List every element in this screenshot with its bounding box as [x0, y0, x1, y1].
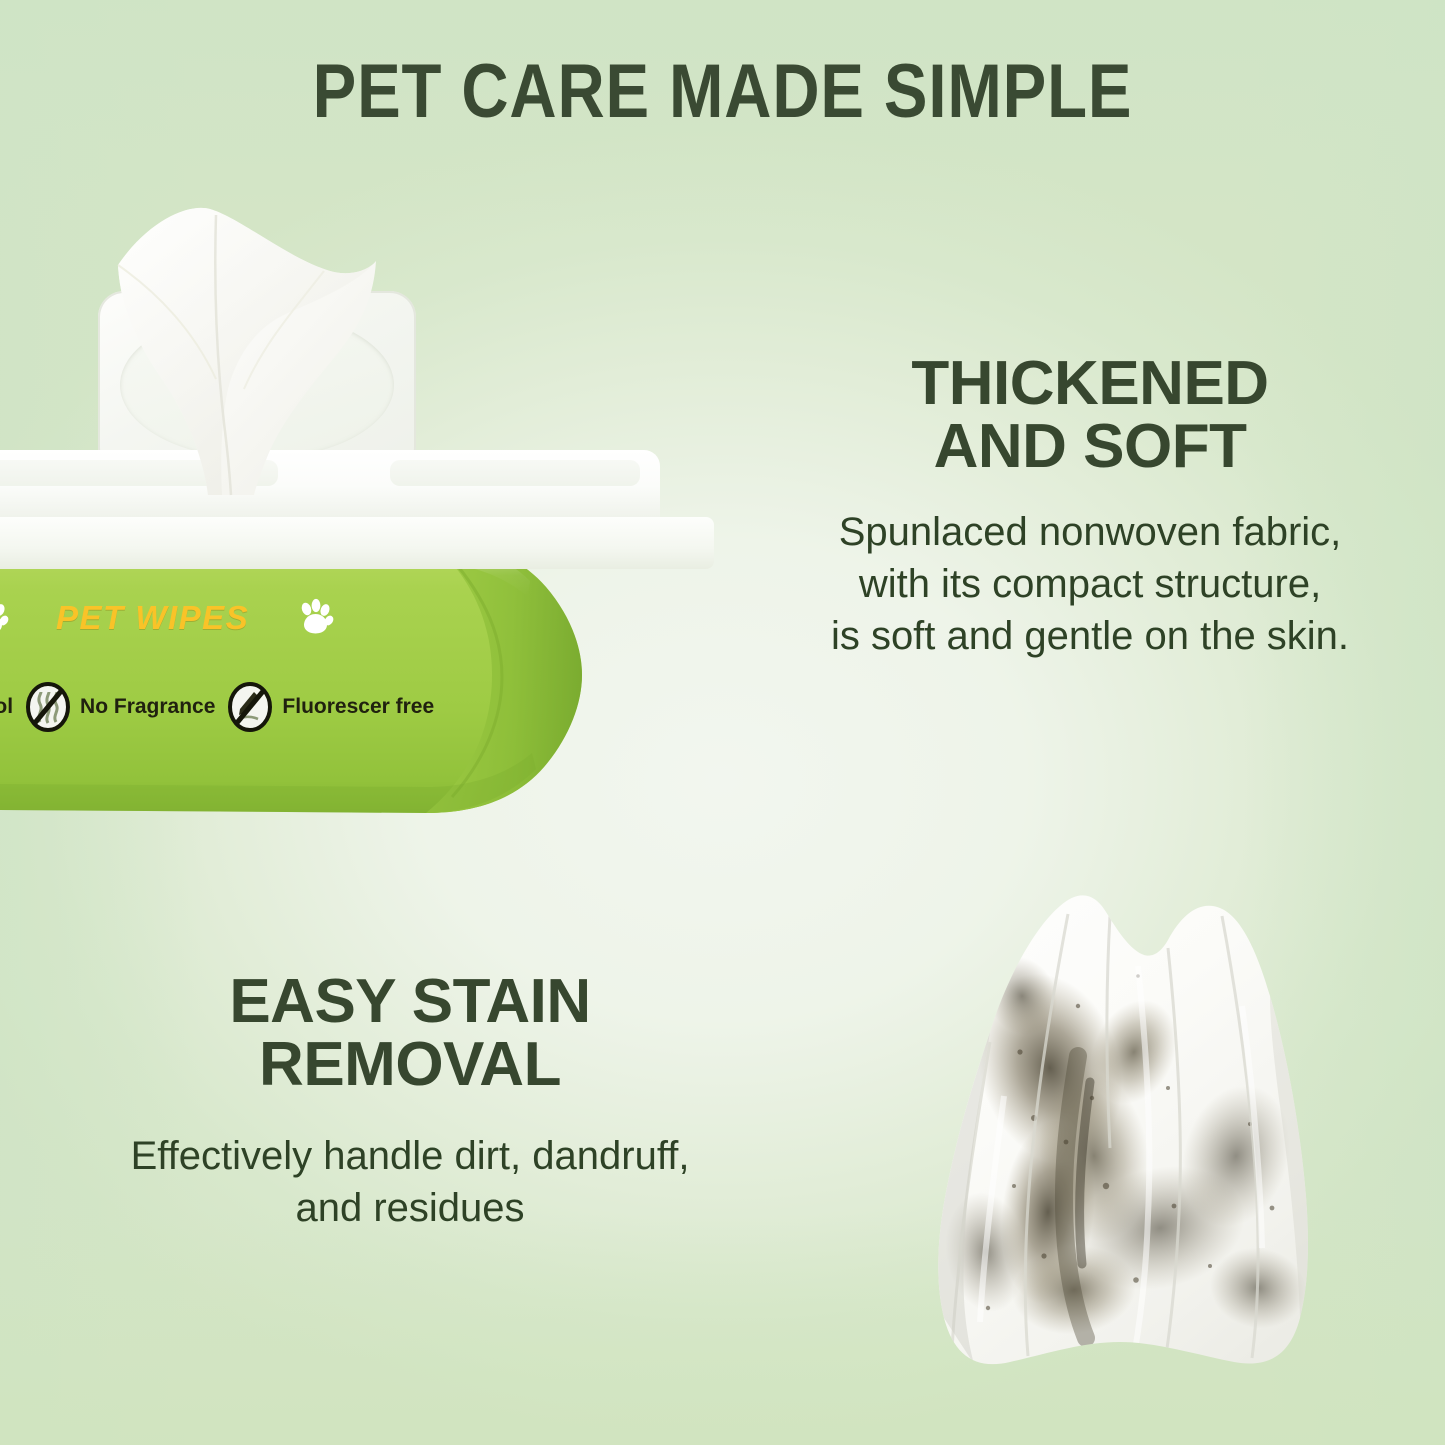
claim-label: Fluorescer free: [282, 695, 434, 719]
feature-block-easy-stain-removal: EASY STAIN REMOVAL Effectively handle di…: [40, 970, 780, 1234]
feature-title: THICKENED AND SOFT: [770, 352, 1410, 478]
package-brand-row: PET WIPES: [0, 598, 335, 638]
feature-body: Effectively handle dirt, dandruff, and r…: [40, 1130, 780, 1234]
package-claims-row: No Alcohol No Fragrance: [0, 682, 434, 732]
claim-label: No Alcohol: [0, 695, 13, 719]
pet-wipes-package: PET WIPES No Alcohol: [0, 195, 790, 835]
claim-label: No Fragrance: [80, 695, 215, 719]
feature-body-line: is soft and gentle on the skin.: [770, 610, 1410, 662]
feature-title-line: AND SOFT: [770, 415, 1410, 478]
feature-title-line: REMOVAL: [40, 1033, 780, 1096]
feature-block-thickened-and-soft: THICKENED AND SOFT Spunlaced nonwoven fa…: [770, 352, 1410, 662]
feature-title-line: THICKENED: [770, 352, 1410, 415]
paw-print-icon: [295, 598, 335, 638]
package-white-band: [0, 517, 714, 569]
package-pouch: [0, 525, 750, 825]
claim-no-alcohol: No Alcohol: [0, 682, 13, 732]
feature-body: Spunlaced nonwoven fabric, with its comp…: [770, 506, 1410, 662]
feature-title: EASY STAIN REMOVAL: [40, 970, 780, 1096]
page-title: PET CARE MADE SIMPLE: [101, 48, 1344, 135]
feature-title-line: EASY STAIN: [40, 970, 780, 1033]
soiled-wipe-image: [838, 856, 1378, 1396]
package-brand-label: PET WIPES: [56, 599, 249, 637]
feature-body-line: with its compact structure,: [770, 558, 1410, 610]
wipe-sheet-icon: [88, 203, 418, 503]
feature-body-line: Effectively handle dirt, dandruff,: [40, 1130, 780, 1182]
claim-fluorescer-free: Fluorescer free: [227, 682, 434, 732]
claim-no-fragrance: No Fragrance: [25, 682, 215, 732]
fluorescer-free-icon: [227, 682, 273, 732]
feature-body-line: Spunlaced nonwoven fabric,: [770, 506, 1410, 558]
paw-print-icon: [0, 598, 10, 638]
no-fragrance-icon: [25, 682, 71, 732]
feature-body-line: and residues: [40, 1182, 780, 1234]
product-feature-poster: PET CARE MADE SIMPLE: [0, 0, 1445, 1445]
